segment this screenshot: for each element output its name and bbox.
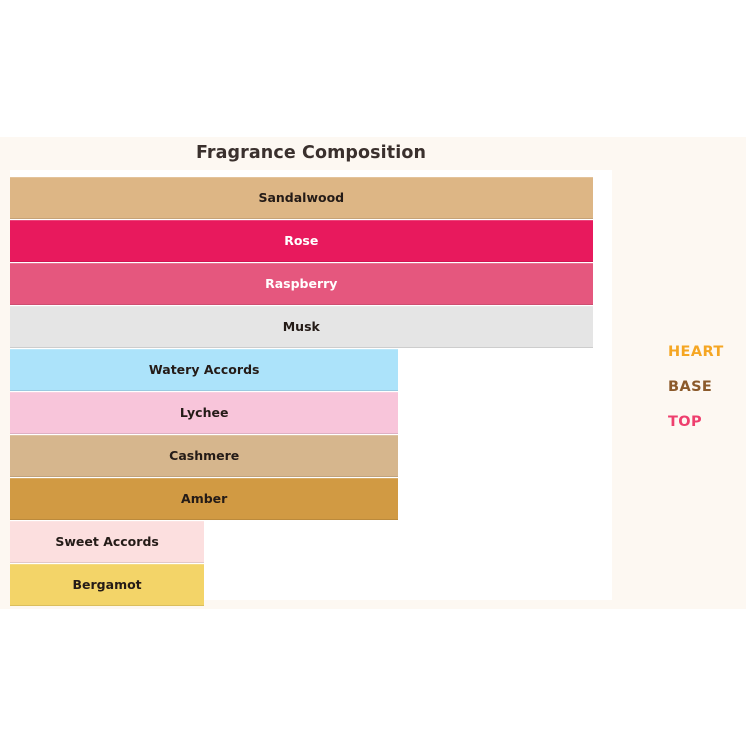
plot-area: SandalwoodRoseRaspberryMuskWatery Accord… bbox=[10, 170, 612, 600]
bar-sandalwood[interactable] bbox=[10, 177, 593, 219]
bar-row: Bergamot bbox=[10, 564, 612, 606]
bar-bergamot[interactable] bbox=[10, 564, 204, 606]
bar-row: Sandalwood bbox=[10, 177, 612, 219]
bar-lychee[interactable] bbox=[10, 392, 398, 434]
legend-item-top[interactable]: TOP bbox=[668, 405, 746, 440]
page-title: Fragrance Composition bbox=[10, 142, 612, 164]
bar-cashmere[interactable] bbox=[10, 435, 398, 477]
bar-amber[interactable] bbox=[10, 478, 398, 520]
figure-panel: Fragrance Composition SandalwoodRoseRasp… bbox=[0, 137, 746, 609]
bar-row: Musk bbox=[10, 306, 612, 348]
bar-row: Lychee bbox=[10, 392, 612, 434]
bar-raspberry[interactable] bbox=[10, 263, 593, 305]
legend-item-heart[interactable]: HEART bbox=[668, 335, 746, 370]
bar-row: Sweet Accords bbox=[10, 521, 612, 563]
bar-watery-accords[interactable] bbox=[10, 349, 398, 391]
bar-row: Rose bbox=[10, 220, 612, 262]
bars-layer: SandalwoodRoseRaspberryMuskWatery Accord… bbox=[10, 170, 612, 600]
bar-musk[interactable] bbox=[10, 306, 593, 348]
legend: HEARTBASETOP bbox=[668, 335, 746, 440]
bar-row: Raspberry bbox=[10, 263, 612, 305]
bar-row: Watery Accords bbox=[10, 349, 612, 391]
bar-sweet-accords[interactable] bbox=[10, 521, 204, 563]
legend-item-base[interactable]: BASE bbox=[668, 370, 746, 405]
bar-rose[interactable] bbox=[10, 220, 593, 262]
bar-row: Amber bbox=[10, 478, 612, 520]
chart-screenshot: Fragrance Composition SandalwoodRoseRasp… bbox=[0, 0, 746, 746]
bar-row: Cashmere bbox=[10, 435, 612, 477]
